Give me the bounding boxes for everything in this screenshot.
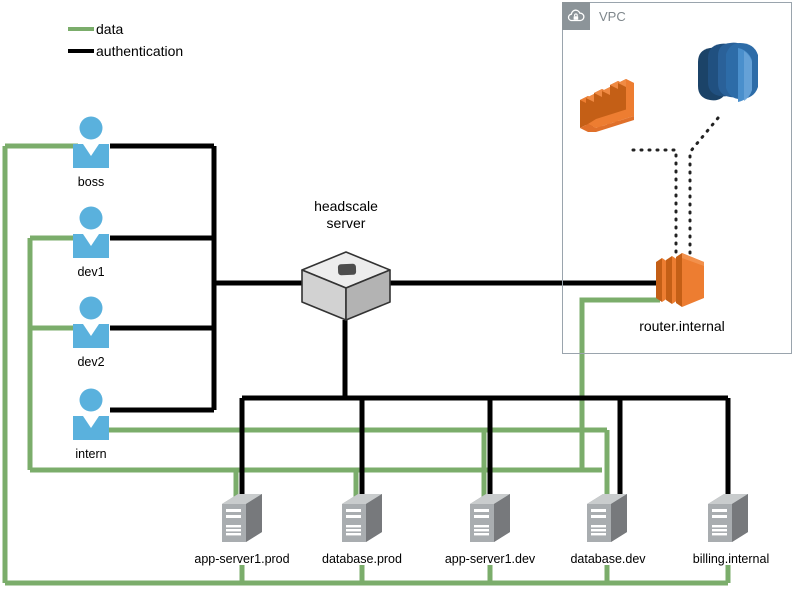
server-icon (466, 492, 514, 548)
server-app-server1-dev[interactable] (466, 492, 514, 548)
user-node-dev2[interactable] (70, 296, 112, 348)
headscale-label-line2: server (286, 215, 406, 232)
legend-item-authentication: authentication (68, 40, 183, 62)
server-icon (218, 492, 266, 548)
server-label-app-server1-prod: app-server1.prod (182, 552, 302, 566)
router-label: router.internal (602, 318, 762, 335)
user-icon (70, 388, 112, 440)
user-icon (70, 206, 112, 258)
server-label-database-dev: database.dev (556, 552, 660, 566)
user-node-intern[interactable] (70, 388, 112, 440)
instance-group-icon[interactable] (578, 72, 638, 152)
instance-stack-glyph (578, 72, 638, 152)
server-icon (704, 492, 752, 548)
server-icon (338, 492, 386, 548)
legend-label-data: data (96, 21, 123, 37)
database-stack-glyph (686, 42, 768, 124)
cloud-lock-glyph (566, 8, 586, 24)
user-icon (70, 116, 112, 168)
server-label-database-prod: database.prod (307, 552, 417, 566)
headscale-server-node[interactable] (300, 250, 392, 322)
user-icon (70, 296, 112, 348)
user-node-boss[interactable] (70, 116, 112, 168)
server-label-app-server1-dev: app-server1.dev (432, 552, 548, 566)
server-label-billing-internal: billing.internal (676, 552, 786, 566)
router-glyph (652, 248, 712, 314)
vpc-header: VPC (562, 2, 626, 30)
user-label-dev1: dev1 (51, 265, 131, 279)
legend-swatch-authentication (68, 49, 94, 53)
legend-item-data: data (68, 18, 183, 40)
legend: data authentication (68, 18, 183, 62)
server-billing-internal[interactable] (704, 492, 752, 548)
server-database-dev[interactable] (583, 492, 631, 548)
server-icon (583, 492, 631, 548)
database-cluster-icon[interactable] (686, 42, 768, 124)
router-icon[interactable] (652, 248, 712, 314)
user-label-boss: boss (51, 175, 131, 189)
server-app-server1-prod[interactable] (218, 492, 266, 548)
cube-icon (300, 250, 392, 322)
user-node-dev1[interactable] (70, 206, 112, 258)
user-label-intern: intern (51, 447, 131, 461)
legend-swatch-data (68, 27, 94, 31)
cloud-lock-icon (562, 2, 590, 30)
network-diagram-canvas: data authentication boss dev1 dev2 (0, 0, 792, 593)
legend-label-authentication: authentication (96, 43, 183, 59)
headscale-label-line1: headscale (286, 198, 406, 215)
user-label-dev2: dev2 (51, 355, 131, 369)
server-database-prod[interactable] (338, 492, 386, 548)
vpc-label: VPC (599, 9, 626, 24)
